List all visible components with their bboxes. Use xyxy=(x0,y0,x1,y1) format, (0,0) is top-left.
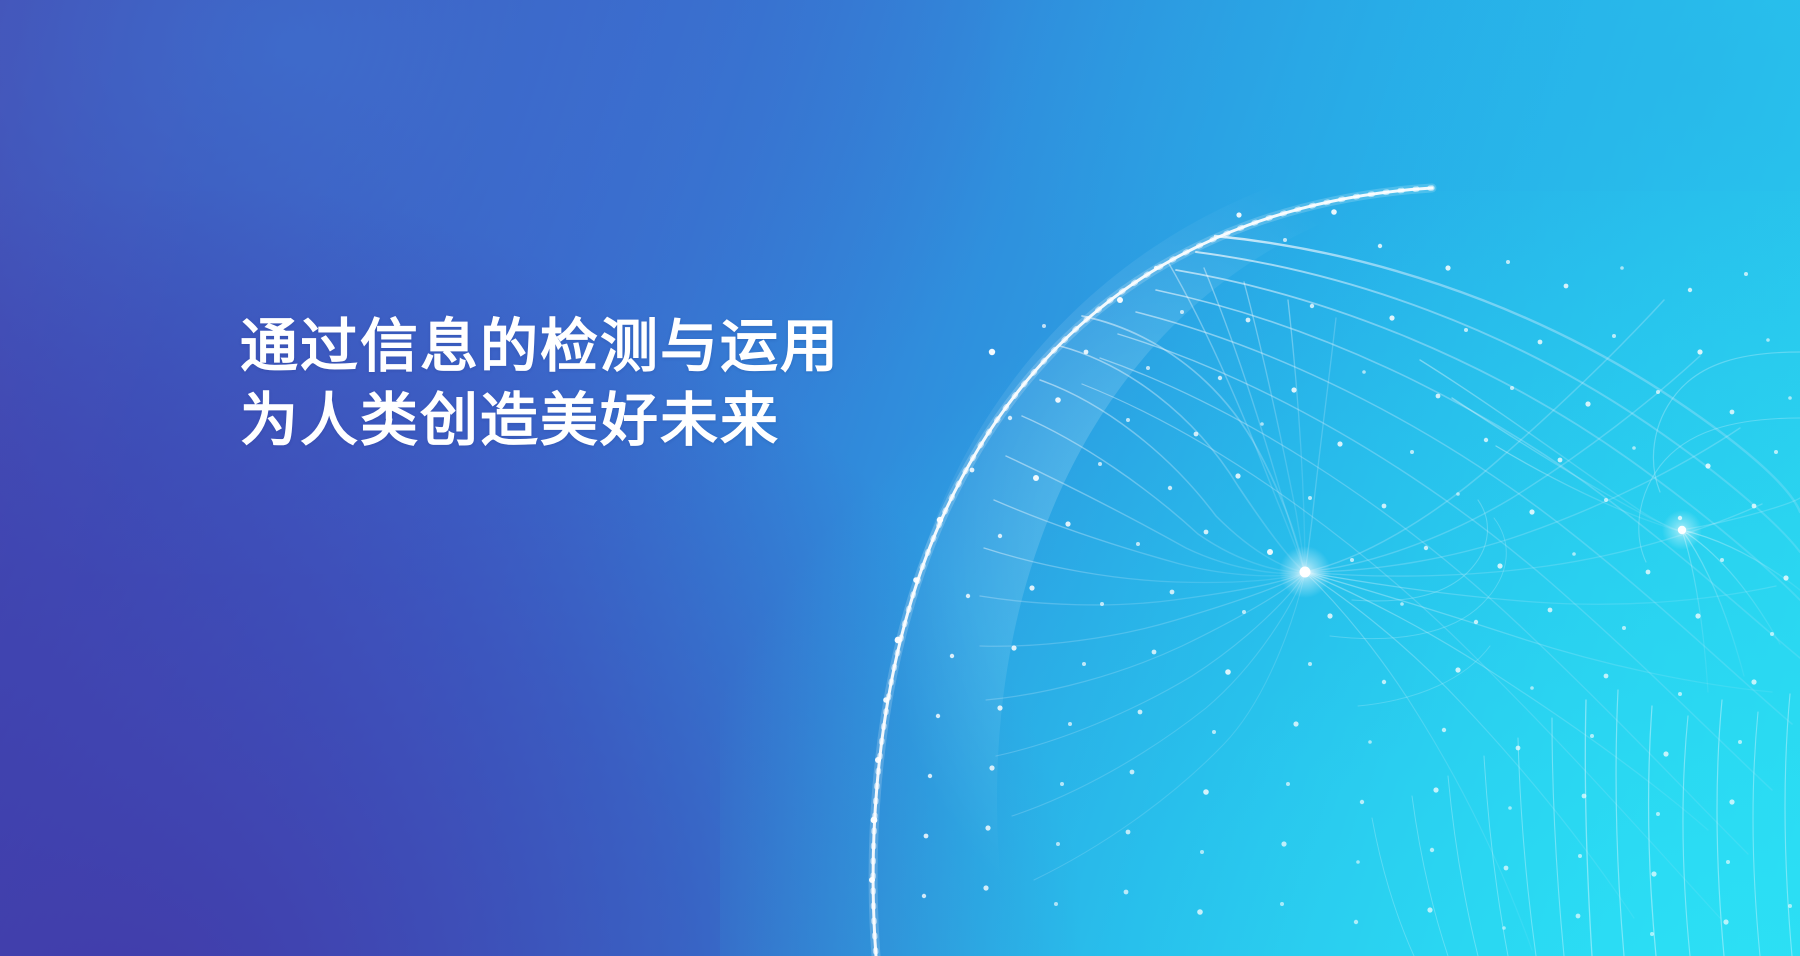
hero-banner: 通过信息的检测与运用 为人类创造美好未来 xyxy=(0,0,1800,956)
headline-line-1: 通过信息的检测与运用 xyxy=(240,310,1000,384)
headline: 通过信息的检测与运用 为人类创造美好未来 xyxy=(240,310,1000,458)
background-cyan-glow xyxy=(720,191,1800,956)
headline-line-2: 为人类创造美好未来 xyxy=(240,384,1000,458)
